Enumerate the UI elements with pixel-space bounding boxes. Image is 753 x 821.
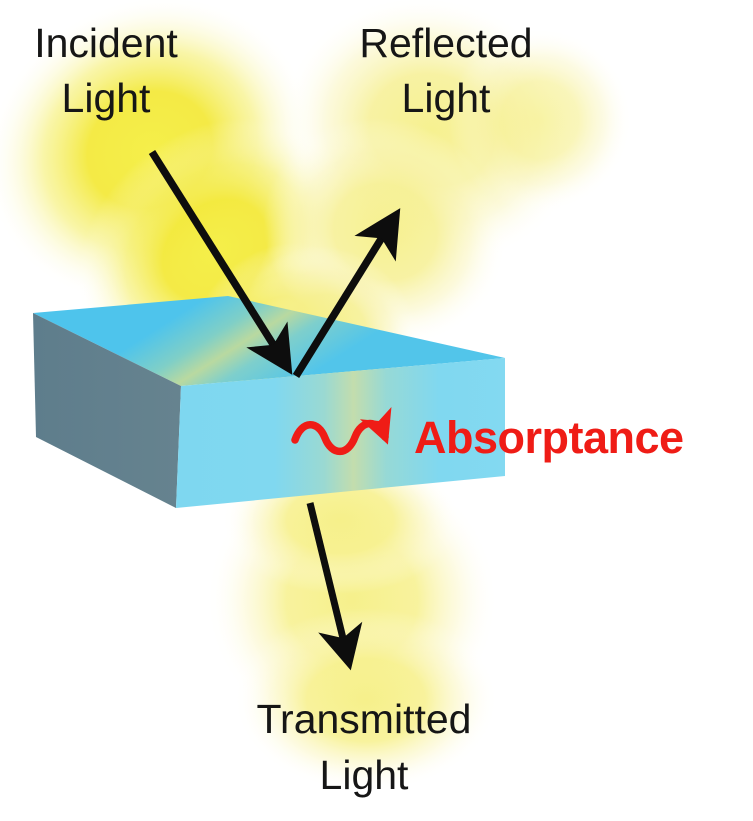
transmitted-light-label-line2: Light [320, 752, 410, 798]
light-interaction-diagram: Incident Light Reflected Light Transmitt… [0, 0, 753, 821]
reflected-light-label-line1: Reflected [359, 20, 532, 66]
diagram-canvas: Incident Light Reflected Light Transmitt… [0, 0, 753, 821]
incident-light-label-line2: Light [62, 75, 152, 121]
absorptance-label: Absorptance [414, 412, 684, 463]
incident-light-label-line1: Incident [34, 20, 178, 66]
reflected-light-label-line2: Light [402, 75, 492, 121]
transmitted-light-label-line1: Transmitted [257, 696, 472, 742]
